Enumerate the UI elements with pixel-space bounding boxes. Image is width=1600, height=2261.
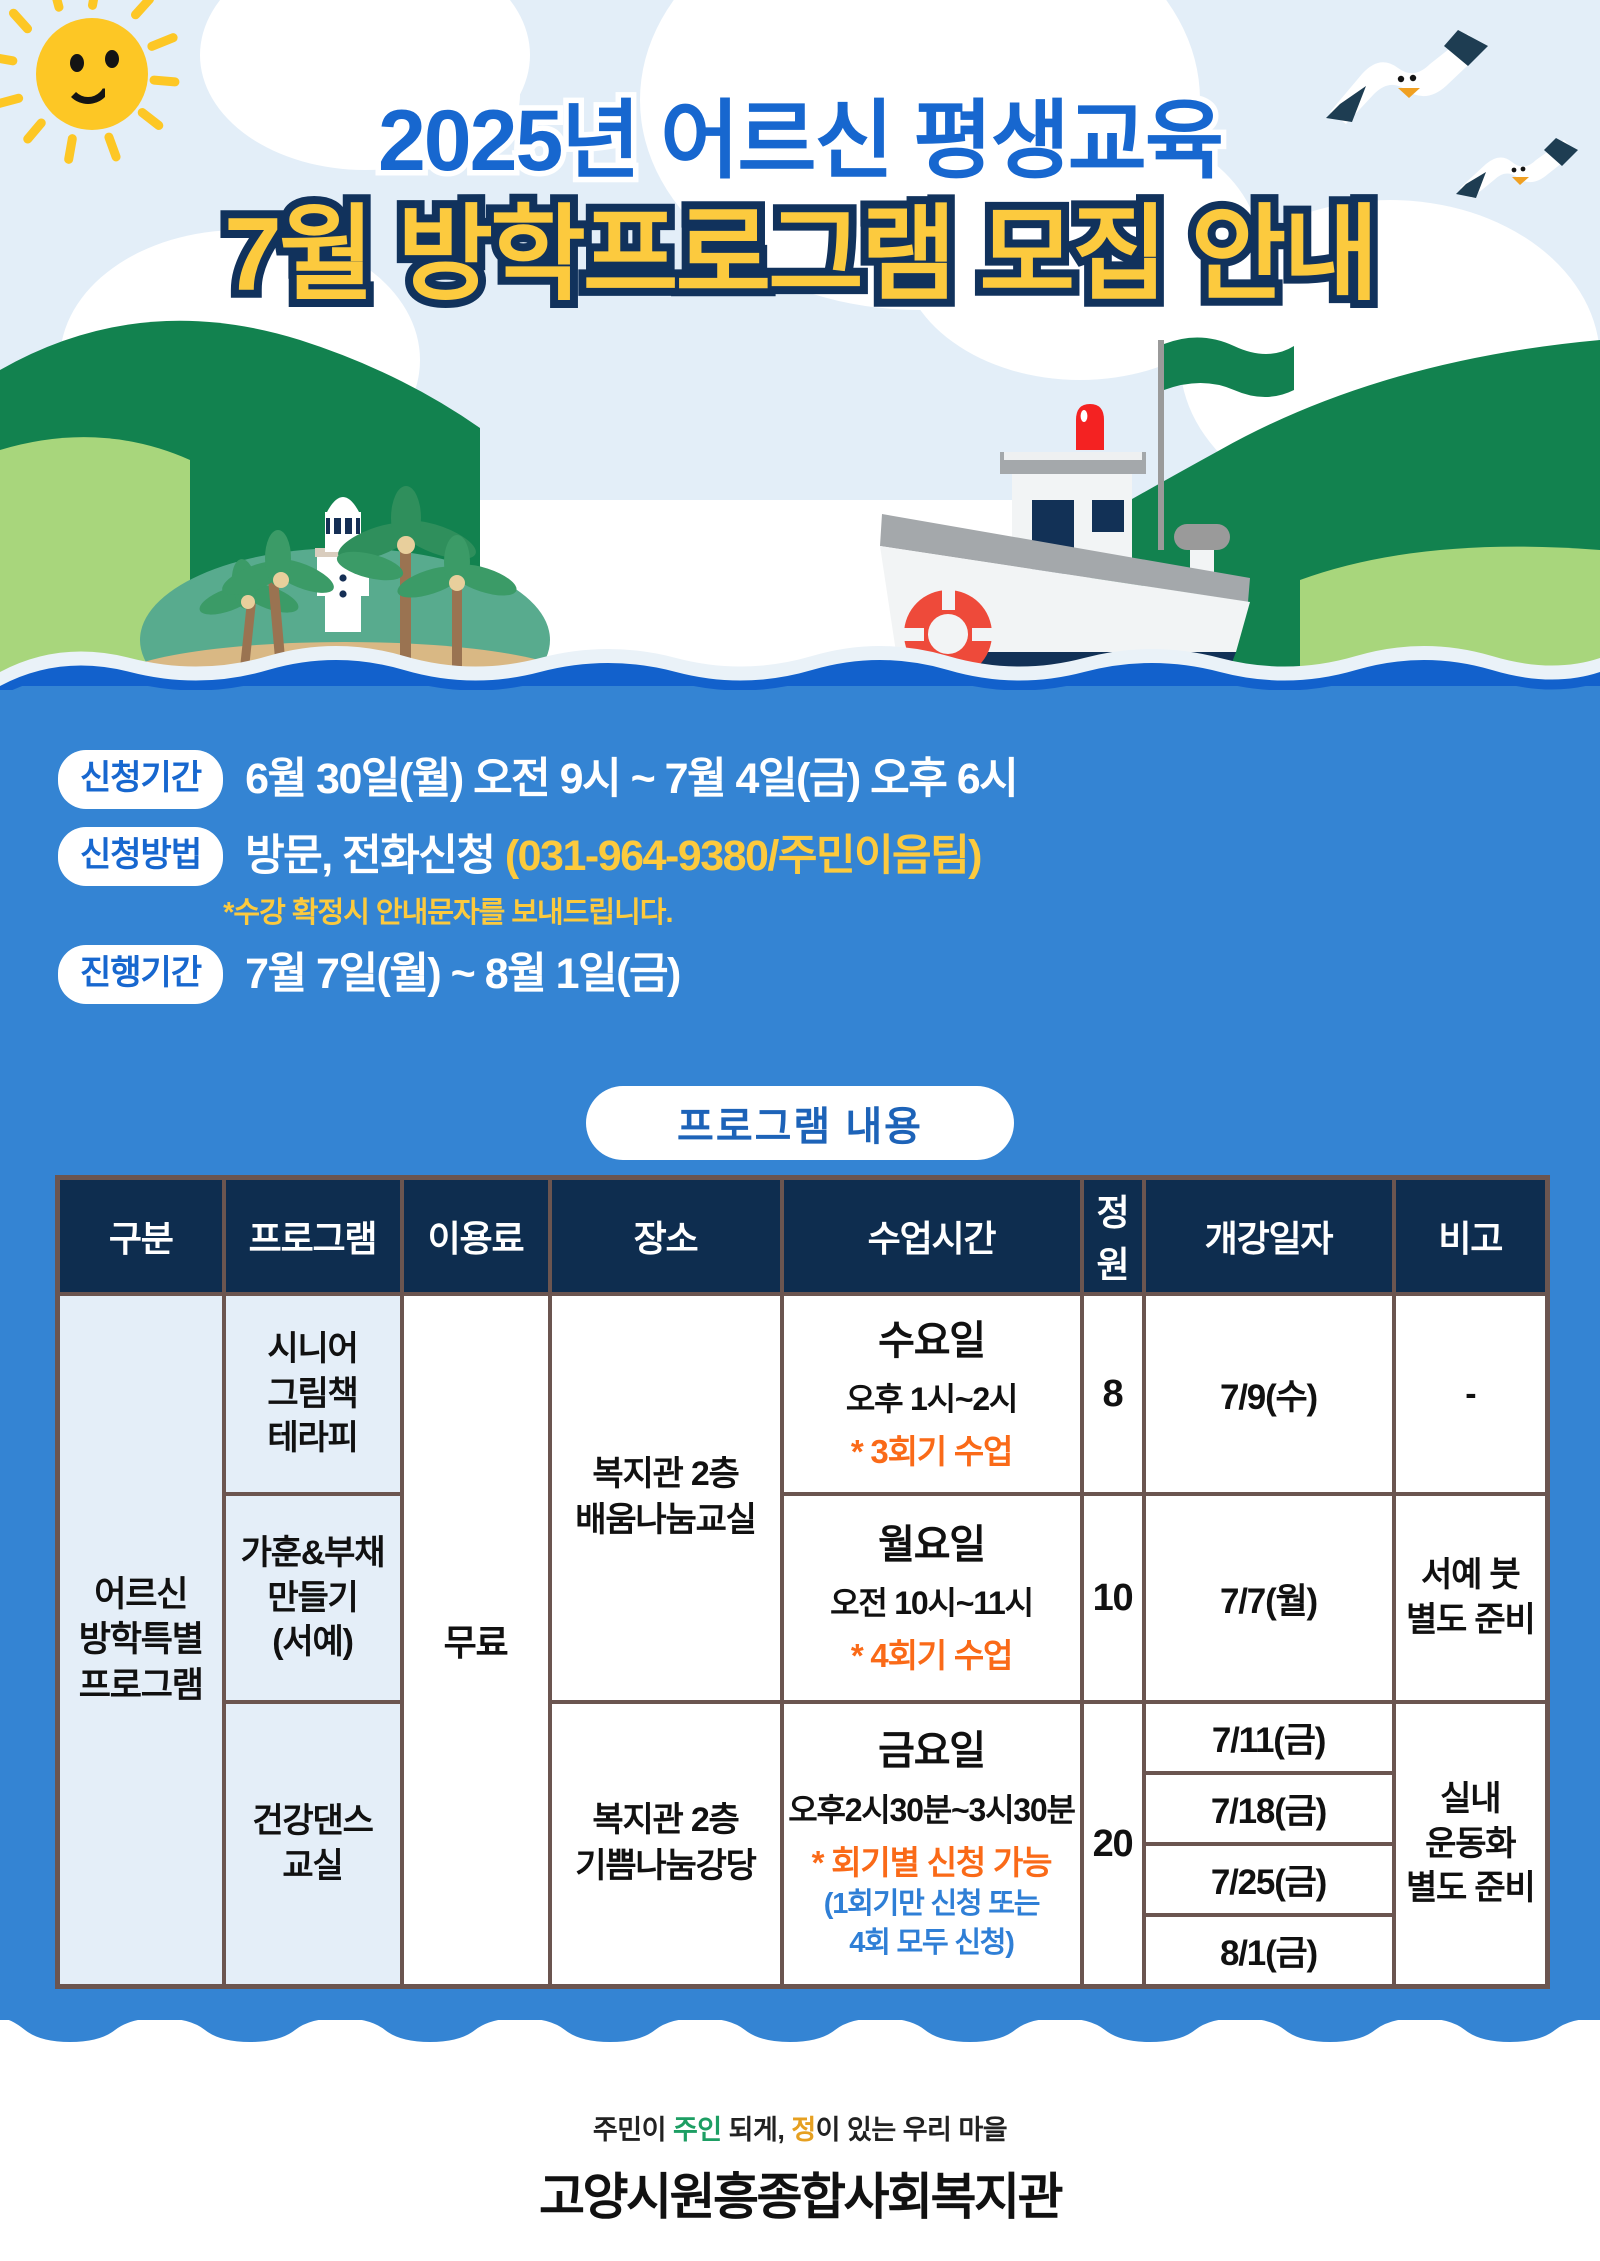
info-row-program-period: 진행기간 7월 7일(월) ~ 8월 1일(금) — [0, 945, 1600, 1004]
title-line-1: 2025년 어르신 평생교육 — [0, 95, 1600, 188]
cell-date-2: 7/7(월) — [1144, 1494, 1394, 1702]
cell-program-1: 시니어그림책테라피 — [224, 1294, 402, 1494]
table-body: 어르신방학특별프로그램 시니어그림책테라피 무료 복지관 2층배움나눔교실 수요… — [58, 1294, 1548, 1987]
info-label-application-period: 신청기간 — [58, 750, 223, 809]
cell-place-3: 복지관 2층기쁨나눔강당 — [550, 1702, 782, 1987]
info-label-program-period: 진행기간 — [58, 945, 223, 1004]
section-badge-program-content: 프로그램 내용 — [586, 1086, 1014, 1160]
info-value-application-period: 6월 30일(월) 오전 9시 ~ 7월 4일(금) 오후 6시 — [245, 750, 1017, 806]
slogan-highlight-orange: 정 — [791, 2115, 815, 2145]
col-header-remarks: 비고 — [1394, 1178, 1548, 1295]
cell-program-2: 가훈&부채만들기(서예) — [224, 1494, 402, 1702]
table-header-row: 구분 프로그램 이용료 장소 수업시간 정원 개강일자 비고 — [58, 1178, 1548, 1295]
sun-ray — [87, 0, 101, 11]
scallop-bottom-edge — [0, 1990, 1600, 2050]
table-row: 가훈&부채만들기(서예) 월요일 오전 10시~11시 * 4회기 수업 10 … — [58, 1494, 1548, 1702]
footer-slogan: 주민이 주인 되게, 정이 있는 우리 마을 — [0, 2108, 1600, 2147]
table-head: 구분 프로그램 이용료 장소 수업시간 정원 개강일자 비고 — [58, 1178, 1548, 1295]
cell-capacity-3: 20 — [1082, 1702, 1144, 1987]
cell-date-3a: 7/11(금) — [1144, 1702, 1394, 1773]
program-table: 구분 프로그램 이용료 장소 수업시간 정원 개강일자 비고 어르신방학특별프로… — [55, 1175, 1550, 1989]
title-line-2: 7월 방학프로그램 모집 안내 — [0, 198, 1600, 312]
col-header-class-time: 수업시간 — [782, 1178, 1082, 1295]
time-note-2: * 4회기 수업 — [788, 1633, 1076, 1679]
sun-ray — [7, 7, 34, 35]
time-day-3: 금요일 — [788, 1724, 1076, 1779]
poster-root: 2025년 어르신 평생교육 7월 방학프로그램 모집 안내 신청기간 6월 3… — [0, 0, 1600, 2261]
info-value-application-method: 방문, 전화신청 (031-964-9380/주민이음팀) — [245, 827, 981, 883]
program-table-wrapper: 구분 프로그램 이용료 장소 수업시간 정원 개강일자 비고 어르신방학특별프로… — [55, 1175, 1545, 1989]
sun-eye-left-icon — [70, 54, 84, 72]
table-row: 어르신방학특별프로그램 시니어그림책테라피 무료 복지관 2층배움나눔교실 수요… — [58, 1294, 1548, 1494]
cell-time-3: 금요일 오후2시30분~3시30분 * 회기별 신청 가능 (1회기만 신청 또… — [782, 1702, 1082, 1987]
time-day-2: 월요일 — [788, 1518, 1076, 1573]
info-note-sms: *수강 확정시 안내문자를 보내드립니다. — [223, 889, 981, 931]
table-row: 건강댄스교실 복지관 2층기쁨나눔강당 금요일 오후2시30분~3시30분 * … — [58, 1702, 1548, 1773]
cell-note-1: - — [1394, 1294, 1548, 1494]
info-label-application-method: 신청방법 — [58, 827, 223, 886]
time-detail-1: 오후 1시~2시 — [788, 1377, 1076, 1421]
cell-date-3b: 7/18(금) — [1144, 1773, 1394, 1844]
footer: 주민이 주인 되게, 정이 있는 우리 마을 고양시원흥종합사회복지관 — [0, 2108, 1600, 2229]
cell-time-1: 수요일 오후 1시~2시 * 3회기 수업 — [782, 1294, 1082, 1494]
slogan-part-3: 이 있는 우리 마을 — [816, 2115, 1007, 2145]
cell-note-2: 서예 붓별도 준비 — [1394, 1494, 1548, 1702]
sun-ray — [149, 75, 180, 87]
sun-ray — [49, 0, 65, 13]
landscape-illustration — [0, 300, 1600, 700]
sun-eye-right-icon — [105, 50, 119, 68]
time-note-blue-3: (1회기만 신청 또는4회 모두 신청) — [788, 1885, 1076, 1963]
slogan-part-2: 되게, — [722, 2115, 792, 2145]
method-phone: (031-964-9380/주민이음팀) — [505, 832, 981, 880]
col-header-capacity: 정원 — [1082, 1178, 1144, 1295]
col-header-program: 프로그램 — [224, 1178, 402, 1295]
sun-ray — [146, 32, 179, 52]
cell-time-2: 월요일 오전 10시~11시 * 4회기 수업 — [782, 1494, 1082, 1702]
info-value-program-period: 7월 7일(월) ~ 8월 1일(금) — [245, 945, 680, 1001]
info-row-application-method: 신청방법 방문, 전화신청 (031-964-9380/주민이음팀) *수강 확… — [0, 827, 1600, 931]
time-detail-3: 오후2시30분~3시30분 — [788, 1788, 1076, 1832]
organization-name: 고양시원흥종합사회복지관 — [0, 2157, 1600, 2229]
time-detail-2: 오전 10시~11시 — [788, 1581, 1076, 1625]
cell-date-3c: 7/25(금) — [1144, 1844, 1394, 1915]
cell-date-3d: 8/1(금) — [1144, 1915, 1394, 1987]
cell-date-1: 7/9(수) — [1144, 1294, 1394, 1494]
info-value-wrapper: 7월 7일(월) ~ 8월 1일(금) — [223, 945, 680, 1001]
time-note-3: * 회기별 신청 가능 — [788, 1840, 1076, 1886]
col-header-start-date: 개강일자 — [1144, 1178, 1394, 1295]
cell-capacity-2: 10 — [1082, 1494, 1144, 1702]
application-info-list: 신청기간 6월 30일(월) 오전 9시 ~ 7월 4일(금) 오후 6시 신청… — [0, 750, 1600, 1022]
time-day-1: 수요일 — [788, 1314, 1076, 1369]
cell-fee: 무료 — [402, 1294, 550, 1987]
col-header-category: 구분 — [58, 1178, 224, 1295]
poster-title: 2025년 어르신 평생교육 7월 방학프로그램 모집 안내 — [0, 95, 1600, 312]
cell-place-1: 복지관 2층배움나눔교실 — [550, 1294, 782, 1702]
cell-note-3: 실내운동화별도 준비 — [1394, 1702, 1548, 1987]
info-row-application-period: 신청기간 6월 30일(월) 오전 9시 ~ 7월 4일(금) 오후 6시 — [0, 750, 1600, 809]
info-value-wrapper: 6월 30일(월) 오전 9시 ~ 7월 4일(금) 오후 6시 — [223, 750, 1017, 806]
col-header-fee: 이용료 — [402, 1178, 550, 1295]
slogan-part-1: 주민이 — [593, 2115, 673, 2145]
slogan-highlight-green: 주인 — [673, 2115, 722, 2145]
method-text: 방문, 전화신청 — [245, 832, 505, 880]
cell-program-3: 건강댄스교실 — [224, 1702, 402, 1987]
cell-capacity-1: 8 — [1082, 1294, 1144, 1494]
cell-category: 어르신방학특별프로그램 — [58, 1294, 224, 1987]
col-header-place: 장소 — [550, 1178, 782, 1295]
info-value-wrapper: 방문, 전화신청 (031-964-9380/주민이음팀) *수강 확정시 안내… — [223, 827, 981, 931]
time-note-1: * 3회기 수업 — [788, 1429, 1076, 1475]
sun-ray — [129, 0, 156, 21]
